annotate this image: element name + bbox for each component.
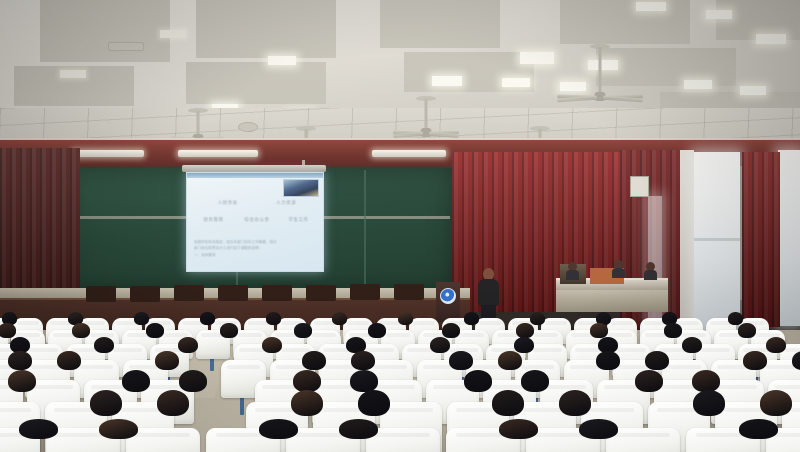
audience-head	[302, 351, 325, 370]
audience-head	[590, 323, 608, 338]
ceiling-fan-icon	[393, 96, 459, 140]
fluorescent-panel-light	[684, 80, 712, 89]
panelist-body	[612, 268, 625, 278]
audience-head	[693, 390, 725, 416]
audience-head	[579, 419, 617, 439]
audience-head	[291, 390, 323, 416]
audience-head	[760, 390, 792, 416]
fluorescent-panel-light	[520, 52, 554, 64]
fluorescent-panel-light	[740, 86, 766, 95]
ceiling-recess	[186, 62, 326, 104]
audience-head	[293, 370, 321, 392]
chalkboard-panel-divider	[364, 170, 366, 290]
audience-head	[596, 351, 619, 370]
audience-head	[530, 312, 546, 325]
audience-head	[521, 370, 549, 392]
fluorescent-panel-light	[706, 10, 732, 19]
audience-head	[398, 312, 414, 325]
audience-head	[155, 351, 178, 370]
audience-head	[728, 312, 744, 325]
ceiling-recess	[380, 0, 500, 48]
audience-head	[449, 351, 472, 370]
front-row-desk	[174, 285, 204, 301]
audience-head	[259, 419, 297, 439]
panelist	[644, 262, 657, 279]
front-row-desk	[86, 286, 116, 302]
audience-head	[559, 390, 591, 416]
window-drape	[742, 152, 780, 327]
fluorescent-panel-light	[636, 2, 666, 11]
audience-head	[72, 323, 90, 338]
audience-head	[57, 351, 80, 370]
audience-head	[99, 419, 137, 439]
audience-head	[743, 351, 766, 370]
presenter	[476, 268, 502, 324]
audience-head	[146, 323, 164, 338]
chalkboard-light-icon	[178, 150, 258, 157]
ceiling-recess	[560, 0, 690, 44]
slide-item-1: 财务管理	[191, 217, 236, 223]
fluorescent-panel-light	[268, 56, 296, 65]
slide-heading-left: 人财务处	[197, 200, 260, 206]
slide-item-2: 综合办公室	[236, 217, 278, 223]
audience-head	[179, 370, 207, 392]
audience-head	[499, 419, 537, 439]
panelist-body	[644, 270, 657, 280]
audience-head	[8, 370, 36, 392]
slide-title-bar	[187, 173, 323, 178]
audience-head	[682, 337, 702, 354]
audience-head	[19, 419, 57, 439]
audience-head	[294, 323, 312, 338]
audience-head	[664, 323, 682, 338]
fluorescent-panel-light	[756, 34, 786, 44]
audience-head	[90, 390, 122, 416]
fluorescent-panel-light	[60, 70, 86, 78]
window	[778, 150, 800, 326]
panelist	[566, 262, 579, 279]
audience-head	[738, 323, 756, 338]
audience-head	[157, 390, 189, 416]
window	[694, 152, 740, 330]
audience-head	[339, 419, 377, 439]
audience-head	[464, 370, 492, 392]
chalkboard-light-icon	[72, 150, 144, 157]
panelist-body	[566, 270, 579, 280]
slide-heading-right: 人力资源	[259, 200, 313, 206]
audience-head	[0, 323, 16, 338]
wall-loudspeaker-icon	[630, 176, 649, 197]
audience-head	[514, 337, 534, 354]
audience-head	[351, 351, 374, 370]
panelist	[612, 260, 625, 277]
ceiling-recess	[196, 0, 336, 58]
ceiling-recess	[40, 0, 170, 62]
audience-head	[134, 312, 150, 325]
audience-head	[200, 312, 216, 325]
audience-head	[220, 323, 238, 338]
projection-screen: 人财务处人力资源 财务管理综合办公室学生工作 依据学校有关规定，结合本部门实际工…	[186, 172, 324, 272]
audience-head	[516, 323, 534, 338]
slide-body-line: 一、总体要求	[194, 252, 316, 258]
audience-head	[266, 312, 282, 325]
audience-head	[739, 419, 777, 439]
audience-head	[766, 337, 786, 354]
audience-head	[94, 337, 114, 354]
fluorescent-panel-light	[432, 76, 462, 86]
fluorescent-panel-light	[160, 30, 186, 38]
audience-head	[178, 337, 198, 354]
audience-head	[442, 323, 460, 338]
front-row-desk	[394, 284, 424, 300]
air-vent-icon	[108, 42, 144, 51]
audience-head	[430, 337, 450, 354]
audience-head	[492, 390, 524, 416]
ceiling-fan-icon	[557, 44, 643, 104]
slide-thumbnail-image	[283, 179, 319, 197]
audience-head	[122, 370, 150, 392]
front-row-desk	[262, 285, 292, 301]
audience-head	[262, 337, 282, 354]
chalkboard-light-icon	[372, 150, 446, 157]
fluorescent-panel-light	[502, 78, 530, 87]
front-row-desk	[350, 284, 380, 300]
audience-head	[368, 323, 386, 338]
screen-roller	[182, 165, 326, 172]
audience-head	[498, 351, 521, 370]
audience-head	[645, 351, 668, 370]
audience-head	[635, 370, 663, 392]
audience-head	[358, 390, 390, 416]
slide-item-3: 学生工作	[278, 217, 319, 223]
ceiling-speaker-icon	[238, 122, 258, 132]
audience-head	[692, 370, 720, 392]
audience-head	[8, 351, 31, 370]
front-row-desk	[218, 285, 248, 301]
audience-head	[332, 312, 348, 325]
institution-emblem-icon	[440, 288, 456, 304]
audience-head	[464, 312, 480, 325]
lecture-hall-photo: 人财务处人力资源 财务管理综合办公室学生工作 依据学校有关规定，结合本部门实际工…	[0, 0, 800, 452]
front-row-desk	[306, 285, 336, 301]
audience-head	[350, 370, 378, 392]
front-row-desk	[130, 286, 160, 302]
presenter-body	[478, 279, 499, 306]
